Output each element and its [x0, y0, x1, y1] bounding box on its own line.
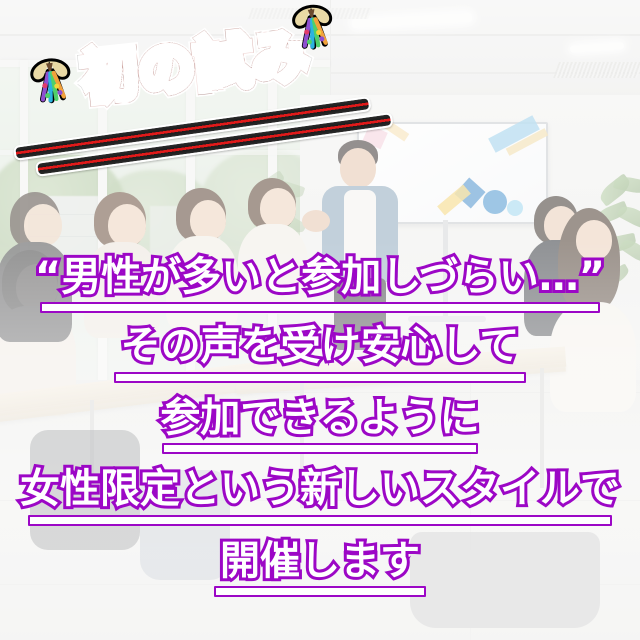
copy-line-text: 女性限定という新しいスタイルで — [20, 468, 620, 510]
copy-line: その声を受け安心して — [0, 325, 640, 382]
copy-line: 開催します — [0, 540, 640, 597]
party-popper-icon — [21, 50, 80, 109]
copy-line-text: その声を受け安心して — [121, 325, 520, 367]
copy-underline — [214, 586, 426, 597]
copy-line-text: 参加できるように — [160, 397, 479, 439]
copy-line-text: 開催します — [220, 540, 420, 582]
copy-line-text: “男性が多いと参加しづらい…” — [35, 256, 605, 298]
main-copy-block: “男性が多いと参加しづらい…” その声を受け安心して 参加できるように 女性限定… — [0, 256, 640, 597]
copy-line: “男性が多いと参加しづらい…” — [0, 256, 640, 313]
poster-canvas: 初の試み 初の試み 初の試み — [0, 0, 640, 640]
copy-underline — [40, 302, 600, 313]
copy-line: 参加できるように — [0, 397, 640, 454]
copy-line: 女性限定という新しいスタイルで — [0, 468, 640, 525]
copy-underline — [114, 372, 526, 383]
copy-underline — [28, 515, 612, 526]
party-popper-icon — [283, 0, 342, 56]
copy-underline — [162, 443, 478, 454]
